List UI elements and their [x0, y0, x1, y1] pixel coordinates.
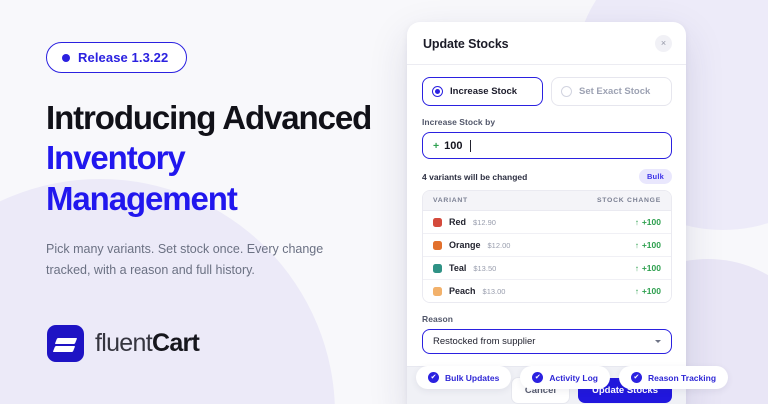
feature-pill-activity-log[interactable]: ✔ Activity Log — [520, 366, 610, 389]
check-circle-icon: ✔ — [428, 372, 439, 383]
variant-stock-change-value: +100 — [642, 240, 661, 250]
color-swatch-icon — [433, 241, 442, 250]
table-row[interactable]: Teal $13.50 ↑ +100 — [423, 257, 671, 280]
variant-name: Red — [449, 217, 466, 227]
variant-name: Teal — [449, 263, 466, 273]
release-badge-label: Release 1.3.22 — [78, 50, 168, 65]
feature-pill-label: Activity Log — [549, 373, 598, 383]
variants-count-text: 4 variants will be changed — [422, 172, 527, 182]
feature-pill-list: ✔ Bulk Updates ✔ Activity Log ✔ Reason T… — [416, 366, 728, 389]
radio-option-set-exact-stock[interactable]: Set Exact Stock — [551, 77, 672, 106]
variants-table-header: VARIANT STOCK CHANGE — [423, 191, 671, 211]
variant-stock-change: ↑ +100 — [635, 286, 661, 296]
text-cursor — [470, 140, 471, 152]
table-row[interactable]: Red $12.90 ↑ +100 — [423, 211, 671, 234]
column-header-variant: VARIANT — [433, 197, 468, 204]
headline-line-3: Management — [46, 179, 386, 219]
fluentcart-logo-icon — [47, 325, 84, 362]
reason-field-label: Reason — [422, 314, 672, 324]
modal-title: Update Stocks — [423, 37, 509, 51]
update-stocks-modal: Update Stocks × Increase Stock Set Exact… — [407, 22, 686, 404]
radio-label-set-exact-stock: Set Exact Stock — [579, 86, 650, 97]
feature-pill-label: Bulk Updates — [445, 373, 499, 383]
column-header-stock-change: STOCK CHANGE — [597, 197, 661, 204]
table-row[interactable]: Orange $12.00 ↑ +100 — [423, 234, 671, 257]
chevron-down-icon — [655, 340, 661, 343]
promo-canvas: Release 1.3.22 Introducing Advanced Inve… — [0, 0, 768, 404]
amount-value: 100 — [444, 140, 462, 152]
check-circle-icon: ✔ — [631, 372, 642, 383]
arrow-up-icon: ↑ — [635, 241, 639, 250]
modal-body: Increase Stock Set Exact Stock Increase … — [407, 65, 686, 366]
variant-stock-change: ↑ +100 — [635, 240, 661, 250]
color-swatch-icon — [433, 264, 442, 273]
dot-icon — [62, 54, 70, 62]
variant-stock-change-value: +100 — [642, 217, 661, 227]
feature-pill-bulk-updates[interactable]: ✔ Bulk Updates — [416, 366, 511, 389]
hero-subtitle: Pick many variants. Set stock once. Ever… — [46, 239, 336, 282]
arrow-up-icon: ↑ — [635, 218, 639, 227]
variant-price: $12.90 — [473, 218, 496, 227]
headline-line-2: Inventory — [46, 138, 386, 178]
variant-name: Peach — [449, 286, 476, 296]
release-badge[interactable]: Release 1.3.22 — [46, 42, 187, 73]
brand-name: fluentCart — [95, 329, 199, 358]
reason-selected-value: Restocked from supplier — [433, 336, 535, 347]
variant-price: $13.00 — [483, 287, 506, 296]
modal-header: Update Stocks × — [407, 22, 686, 65]
status-badge-bulk: Bulk — [639, 169, 672, 184]
radio-label-increase-stock: Increase Stock — [450, 86, 517, 97]
table-row[interactable]: Peach $13.00 ↑ +100 — [423, 280, 671, 302]
headline-line-1: Introducing Advanced — [46, 98, 386, 138]
plus-sign-icon: + — [433, 140, 439, 152]
increase-stock-by-input[interactable]: + 100 — [422, 132, 672, 159]
color-swatch-icon — [433, 218, 442, 227]
variant-price: $13.50 — [473, 264, 496, 273]
variant-name: Orange — [449, 240, 481, 250]
brand-name-bold: Cart — [152, 329, 199, 357]
radio-option-increase-stock[interactable]: Increase Stock — [422, 77, 543, 106]
stock-mode-radio-group: Increase Stock Set Exact Stock — [422, 77, 672, 106]
arrow-up-icon: ↑ — [635, 287, 639, 296]
arrow-up-icon: ↑ — [635, 264, 639, 273]
color-swatch-icon — [433, 287, 442, 296]
brand-name-thin: fluent — [95, 329, 152, 357]
radio-icon-set-exact-stock — [561, 86, 572, 97]
variant-stock-change-value: +100 — [642, 286, 661, 296]
page-title: Introducing Advanced Inventory Managemen… — [46, 98, 386, 219]
reason-select[interactable]: Restocked from supplier — [422, 329, 672, 354]
check-circle-icon: ✔ — [532, 372, 543, 383]
amount-field-label: Increase Stock by — [422, 117, 672, 127]
variant-stock-change-value: +100 — [642, 263, 661, 273]
variant-price: $12.00 — [488, 241, 511, 250]
variants-summary-row: 4 variants will be changed Bulk — [422, 169, 672, 184]
variants-table: VARIANT STOCK CHANGE Red $12.90 ↑ +100 — [422, 190, 672, 303]
variant-stock-change: ↑ +100 — [635, 217, 661, 227]
radio-icon-increase-stock — [432, 86, 443, 97]
hero-column: Release 1.3.22 Introducing Advanced Inve… — [46, 42, 386, 282]
feature-pill-reason-tracking[interactable]: ✔ Reason Tracking — [619, 366, 728, 389]
feature-pill-label: Reason Tracking — [648, 373, 716, 383]
variant-stock-change: ↑ +100 — [635, 263, 661, 273]
brand-lockup: fluentCart — [47, 325, 199, 362]
close-icon[interactable]: × — [655, 35, 672, 52]
